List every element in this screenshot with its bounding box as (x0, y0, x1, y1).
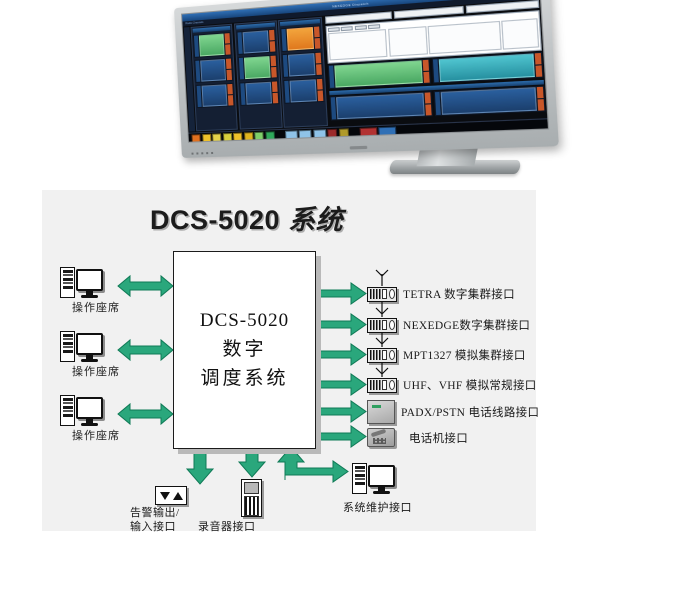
channel-tile (280, 25, 321, 52)
pc-tower-icon (60, 395, 75, 426)
alarm-io-device (155, 486, 187, 505)
desktop-monitor-icon (76, 269, 103, 298)
channel-tile (193, 32, 232, 58)
maintenance-workstation (352, 456, 395, 494)
workstation-label: 操作座席 (60, 299, 168, 315)
core-box-line-1: DCS-5020 (200, 310, 289, 332)
channel-column (233, 20, 282, 129)
alarm-io-label-line1: 告警输出/ (130, 506, 180, 520)
screen-clock: 04:15:43 PM Thursday, October 14, 2010 (506, 139, 546, 142)
pc-tower-icon (60, 267, 75, 298)
workstation-icons (60, 260, 168, 298)
core-box-line-2: 数字 (222, 334, 266, 361)
pc-tower-icon (352, 463, 367, 494)
interface-label: PADX/PSTN 电话线路接口 (401, 404, 539, 420)
station-tile (329, 91, 433, 120)
interface-row-nexedge: NEXEDGE数字集群接口 (367, 317, 530, 333)
interface-row-tetra: TETRA 数字集群接口 (367, 286, 515, 302)
alarm-io-label-line2: 输入接口 (130, 520, 180, 534)
channel-column (278, 17, 328, 128)
system-diagram-panel: DCS-5020 系统 DCS-50 (42, 190, 536, 531)
product-photo-monitor: NEXEDGE Dispatch Radio Channels (150, 2, 550, 188)
pbx-cabinet-icon (367, 400, 395, 424)
interface-label: NEXEDGE数字集群接口 (403, 317, 530, 333)
radio-base-station-icon (367, 318, 397, 333)
interface-label: MPT1327 模拟集群接口 (403, 347, 526, 363)
desk-telephone-icon (367, 428, 395, 447)
core-box-line-3: 调度系统 (200, 363, 288, 390)
alarm-io-icon (155, 486, 187, 505)
interface-label: 电话机接口 (409, 430, 468, 446)
alarm-io-label: 告警输出/ 输入接口 (130, 506, 180, 534)
msel-tile (432, 52, 544, 84)
desktop-monitor-icon (76, 397, 103, 426)
workstation-icons (60, 388, 168, 426)
workstation-2: 操作座席 (60, 324, 168, 379)
desktop-monitor-icon (368, 465, 395, 494)
monitor-brand-logo (350, 146, 368, 150)
radio-base-station-icon (367, 378, 397, 393)
pc-tower-icon (60, 331, 75, 362)
workstation-label: 操作座席 (60, 363, 168, 379)
desktop-monitor-icon (76, 333, 103, 362)
recorder-device (241, 479, 262, 517)
channel-column-group (191, 17, 328, 132)
workstation-3: 操作座席 (60, 388, 168, 443)
workstation-1: 操作座席 (60, 260, 168, 315)
interface-label: TETRA 数字集群接口 (403, 286, 515, 302)
maintenance-icons (352, 456, 395, 494)
recorder-label: 录音器接口 (198, 520, 256, 534)
interface-row-mpt1327: MPT1327 模拟集群接口 (367, 347, 526, 363)
channel-tile (194, 57, 233, 83)
clock-time: 04:15:43 PM (506, 139, 545, 142)
monitor-bezel: NEXEDGE Dispatch Radio Channels (174, 0, 559, 158)
workstation-icons (60, 324, 168, 362)
monitor-led-indicators (191, 152, 213, 155)
channel-tile (283, 77, 324, 103)
core-system-box: DCS-5020 数字 调度系统 (173, 251, 316, 449)
interface-row-pabx-pstn: PADX/PSTN 电话线路接口 (367, 400, 539, 424)
station-tile (434, 86, 546, 117)
channel-tile (196, 82, 235, 107)
dispatch-console-screen: NEXEDGE Dispatch Radio Channels (182, 0, 548, 142)
monitor-screen-area: NEXEDGE Dispatch Radio Channels (181, 0, 549, 143)
voice-recorder-icon (241, 479, 262, 517)
channel-column (191, 24, 238, 132)
maintenance-label: 系统维护接口 (343, 501, 412, 515)
interface-row-telephone: 电话机接口 (367, 428, 468, 447)
workstation-label: 操作座席 (60, 427, 168, 443)
interface-label: UHF、VHF 模拟常规接口 (403, 377, 537, 393)
radio-base-station-icon (367, 348, 397, 363)
radio-base-station-icon (367, 287, 397, 302)
patch-tile (327, 59, 431, 89)
channel-tile (236, 28, 276, 54)
screen-right-pane (323, 0, 546, 126)
channel-tile (237, 54, 277, 80)
channel-tile (239, 80, 279, 106)
interface-row-uhf-vhf: UHF、VHF 模拟常规接口 (367, 377, 537, 393)
channel-tile (282, 51, 323, 77)
